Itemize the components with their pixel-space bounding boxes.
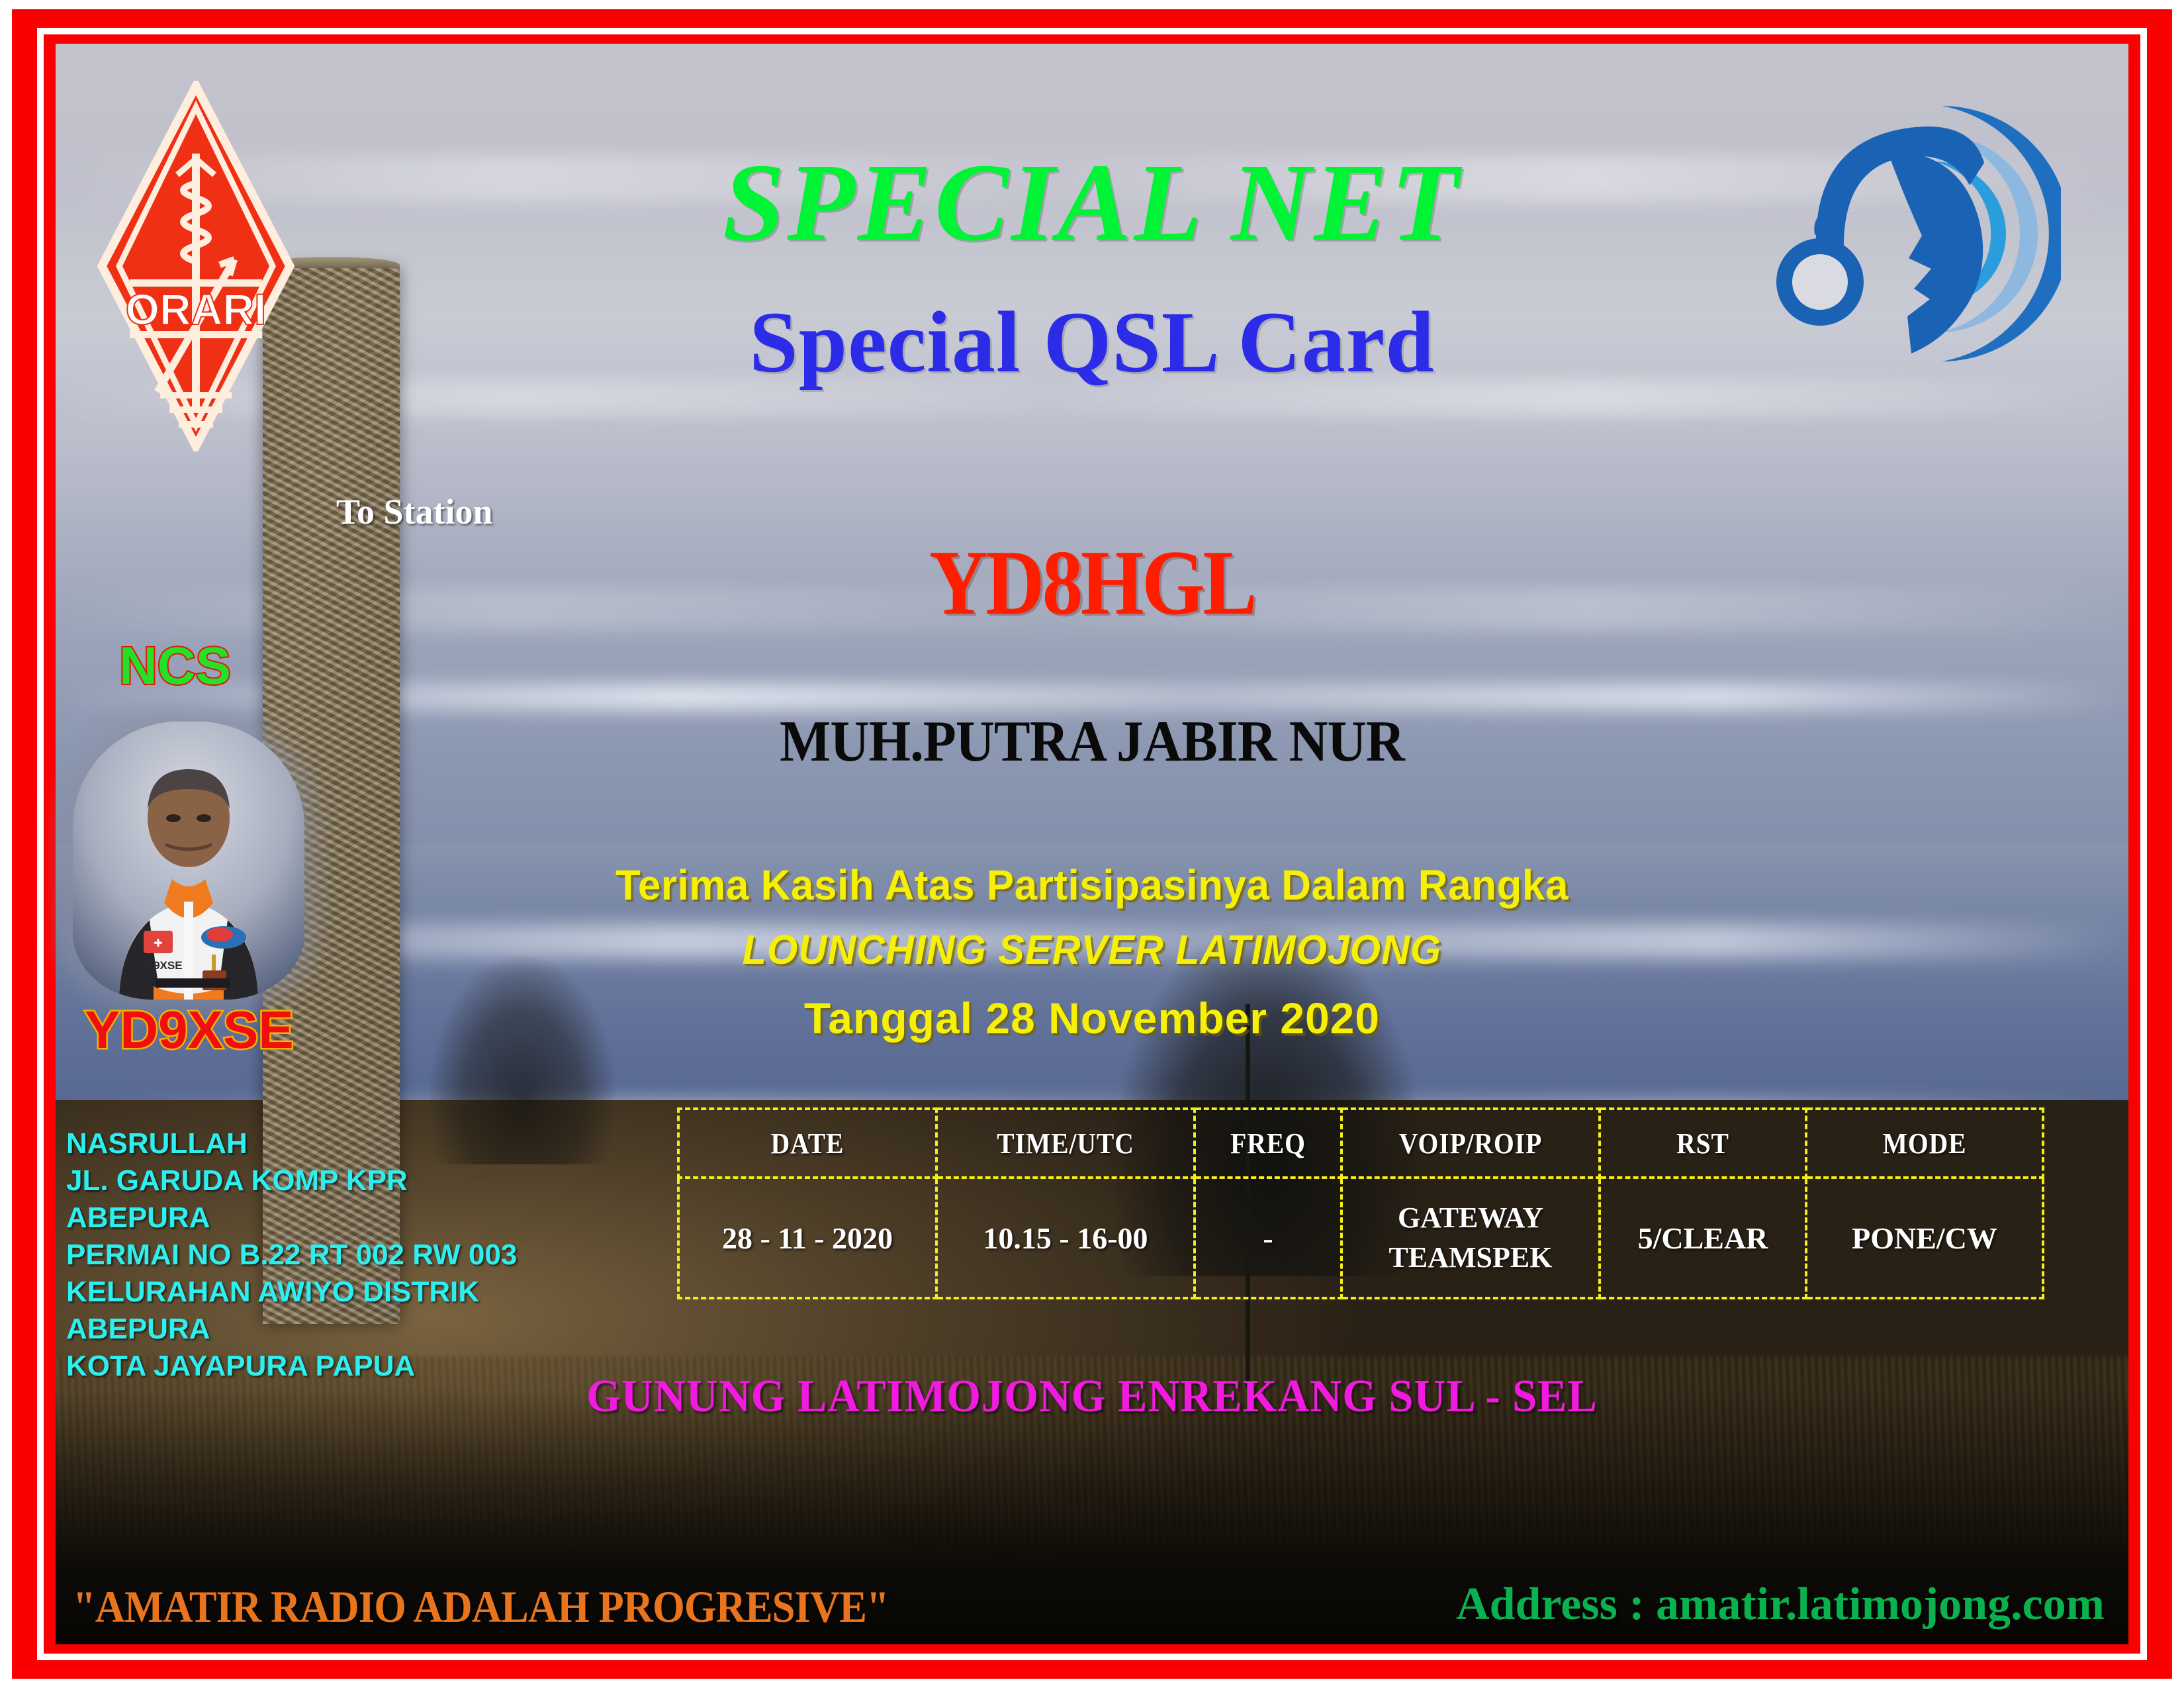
col-header-voip: VOIP/ROIP	[1355, 1109, 1587, 1178]
page-title: SPECIAL NET	[0, 139, 2184, 267]
col-header-mode: MODE	[1818, 1109, 2031, 1178]
address-line: ABEPURA	[66, 1199, 609, 1237]
ncs-operator-photo: ✚ YD9XSE	[73, 722, 304, 1000]
address-url-text: Address : amatir.latimojong.com	[1456, 1578, 2105, 1631]
address-line: PERMAI NO B.22 RT 002 RW 003	[66, 1237, 609, 1274]
operator-name: MUH.PUTRA JABIR NUR	[77, 708, 2108, 775]
address-line: ABEPURA	[66, 1311, 609, 1348]
to-station-label: To Station	[336, 491, 493, 532]
cell-time: 10.15 - 16-00	[936, 1178, 1195, 1298]
svg-text:✚: ✚	[154, 938, 162, 949]
col-header-freq: FREQ	[1202, 1109, 1334, 1178]
location-line: GUNUNG LATIMOJONG ENREKANG SUL - SEL	[55, 1370, 2130, 1423]
recipient-callsign: YD8HGL	[131, 530, 2053, 636]
return-address-block: NASRULLAH JL. GARUDA KOMP KPR ABEPURA PE…	[66, 1125, 609, 1385]
event-date-line: Tanggal 28 November 2020	[0, 993, 2184, 1043]
thanks-line: Terima Kasih Atas Partisipasinya Dalam R…	[33, 861, 2152, 910]
cell-voip-line2: TEAMSPEK	[1343, 1238, 1598, 1278]
cell-rst: 5/CLEAR	[1600, 1178, 1806, 1298]
qsl-card: ORARI SPECIAL NET Special QSL Card To St…	[0, 0, 2184, 1688]
event-line: LOUNCHING SERVER LATIMOJONG	[44, 927, 2140, 974]
cell-mode: PONE/CW	[1806, 1178, 2043, 1298]
address-line: JL. GARUDA KOMP KPR	[66, 1162, 609, 1199]
address-line: NASRULLAH	[66, 1125, 609, 1162]
table-header-row: DATE TIME/UTC FREQ VOIP/ROIP RST MODE	[678, 1109, 2043, 1178]
col-header-rst: RST	[1610, 1109, 1796, 1178]
qso-log-table: DATE TIME/UTC FREQ VOIP/ROIP RST MODE 28…	[677, 1107, 2044, 1299]
motto-text: "AMATIR RADIO ADALAH PROGRESIVE"	[73, 1581, 889, 1633]
col-header-date: DATE	[692, 1109, 924, 1178]
page-subtitle: Special QSL Card	[0, 291, 2184, 393]
cell-voip-line1: GATEWAY	[1343, 1198, 1598, 1238]
ncs-callsign: YD9XSE	[85, 1000, 294, 1060]
cell-date: 28 - 11 - 2020	[678, 1178, 936, 1298]
shirt-callsign-text: YD9XSE	[138, 959, 182, 972]
ncs-label: NCS	[119, 635, 231, 696]
col-header-time: TIME/UTC	[950, 1109, 1182, 1178]
cell-freq: -	[1195, 1178, 1342, 1298]
cell-voip: GATEWAY TEAMSPEK	[1342, 1178, 1600, 1298]
address-line: KELURAHAN AWIYO DISTRIK	[66, 1274, 609, 1311]
table-row: 28 - 11 - 2020 10.15 - 16-00 - GATEWAY T…	[678, 1178, 2043, 1298]
